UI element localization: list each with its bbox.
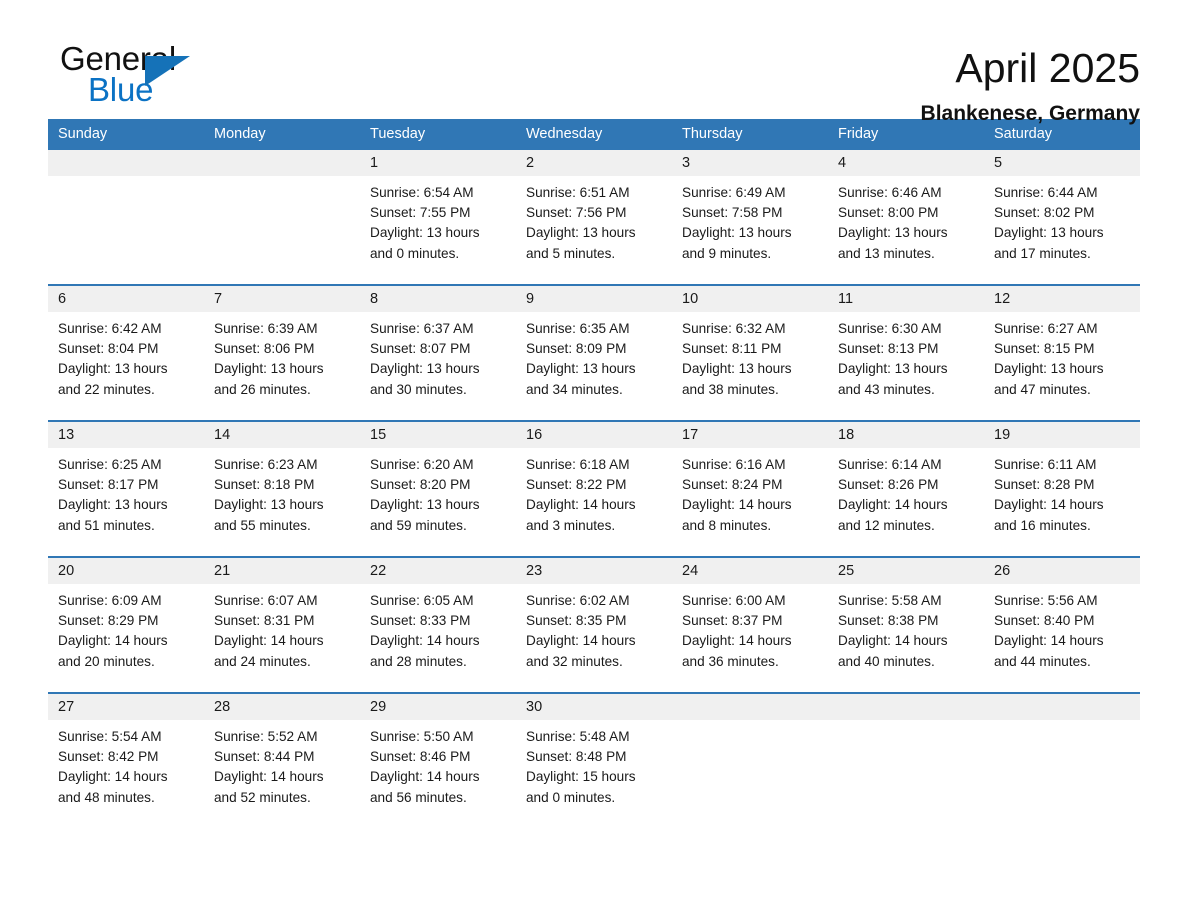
day-number[interactable]: 13 [48, 422, 204, 448]
day-detail-line: Daylight: 14 hours [58, 631, 194, 651]
day-number[interactable]: 21 [204, 558, 360, 584]
day-cell-empty [828, 720, 984, 828]
weekday-header-saturday: Saturday [984, 119, 1140, 150]
day-detail-line: Sunrise: 6:32 AM [682, 319, 818, 339]
day-detail-line: Sunrise: 6:25 AM [58, 455, 194, 475]
day-detail-line: Daylight: 13 hours [370, 223, 506, 243]
day-detail-line: Daylight: 13 hours [370, 359, 506, 379]
day-detail-line: Sunset: 7:55 PM [370, 203, 506, 223]
day-detail-line: Sunset: 8:15 PM [994, 339, 1130, 359]
day-detail-line: Sunrise: 6:27 AM [994, 319, 1130, 339]
day-detail-line: Daylight: 14 hours [526, 495, 662, 515]
day-detail-line: and 28 minutes. [370, 652, 506, 672]
day-detail-line: Sunrise: 6:46 AM [838, 183, 974, 203]
day-detail-line: and 55 minutes. [214, 516, 350, 536]
weekday-header-friday: Friday [828, 119, 984, 150]
day-number[interactable]: 20 [48, 558, 204, 584]
day-detail-line: Daylight: 14 hours [994, 495, 1130, 515]
day-detail-line: and 30 minutes. [370, 380, 506, 400]
week-cells: Sunrise: 6:54 AMSunset: 7:55 PMDaylight:… [48, 176, 1140, 284]
day-number-empty [204, 150, 360, 176]
day-cell[interactable]: Sunrise: 6:30 AMSunset: 8:13 PMDaylight:… [828, 312, 984, 420]
page-header: General Blue April 2025 Blankenese, Germ… [48, 0, 1140, 108]
day-detail-line: Sunrise: 5:48 AM [526, 727, 662, 747]
day-detail-line: and 56 minutes. [370, 788, 506, 808]
day-detail-line: Sunset: 8:20 PM [370, 475, 506, 495]
day-detail-line: Sunrise: 6:05 AM [370, 591, 506, 611]
day-detail-line: Daylight: 14 hours [370, 767, 506, 787]
day-detail-line: Daylight: 15 hours [526, 767, 662, 787]
day-detail-line: Daylight: 13 hours [994, 223, 1130, 243]
day-detail-line: Sunset: 8:06 PM [214, 339, 350, 359]
day-detail-line: and 44 minutes. [994, 652, 1130, 672]
day-detail-line: and 13 minutes. [838, 244, 974, 264]
calendar-week-row: 20212223242526Sunrise: 6:09 AMSunset: 8:… [48, 556, 1140, 692]
day-detail-line: and 36 minutes. [682, 652, 818, 672]
day-detail-line: Sunrise: 6:16 AM [682, 455, 818, 475]
day-number[interactable]: 10 [672, 286, 828, 312]
day-detail-line: Daylight: 13 hours [838, 223, 974, 243]
day-detail-line: Sunset: 8:09 PM [526, 339, 662, 359]
day-number[interactable]: 29 [360, 694, 516, 720]
day-cell[interactable]: Sunrise: 6:05 AMSunset: 8:33 PMDaylight:… [360, 584, 516, 692]
day-number[interactable]: 24 [672, 558, 828, 584]
day-detail-line: Sunrise: 6:07 AM [214, 591, 350, 611]
day-detail-line: Sunrise: 6:39 AM [214, 319, 350, 339]
day-cell[interactable]: Sunrise: 5:58 AMSunset: 8:38 PMDaylight:… [828, 584, 984, 692]
day-cell[interactable]: Sunrise: 6:49 AMSunset: 7:58 PMDaylight:… [672, 176, 828, 284]
day-detail-line: Daylight: 13 hours [370, 495, 506, 515]
day-number[interactable]: 19 [984, 422, 1140, 448]
day-cell[interactable]: Sunrise: 6:39 AMSunset: 8:06 PMDaylight:… [204, 312, 360, 420]
day-detail-line: and 51 minutes. [58, 516, 194, 536]
day-detail-line: Sunset: 8:35 PM [526, 611, 662, 631]
day-detail-line: and 47 minutes. [994, 380, 1130, 400]
day-cell[interactable]: Sunrise: 6:42 AMSunset: 8:04 PMDaylight:… [48, 312, 204, 420]
day-cell[interactable]: Sunrise: 6:23 AMSunset: 8:18 PMDaylight:… [204, 448, 360, 556]
day-detail-line: Sunset: 8:17 PM [58, 475, 194, 495]
day-detail-line: Sunset: 8:37 PM [682, 611, 818, 631]
day-detail-line: Sunset: 8:18 PM [214, 475, 350, 495]
day-cell[interactable]: Sunrise: 5:52 AMSunset: 8:44 PMDaylight:… [204, 720, 360, 828]
day-detail-line: and 48 minutes. [58, 788, 194, 808]
day-detail-line: Sunset: 8:04 PM [58, 339, 194, 359]
day-detail-line: and 24 minutes. [214, 652, 350, 672]
day-number[interactable]: 4 [828, 150, 984, 176]
day-detail-line: Sunset: 8:28 PM [994, 475, 1130, 495]
day-number-empty [48, 150, 204, 176]
day-detail-line: Daylight: 13 hours [526, 359, 662, 379]
day-number[interactable]: 22 [360, 558, 516, 584]
day-detail-line: Sunset: 8:42 PM [58, 747, 194, 767]
day-number[interactable]: 3 [672, 150, 828, 176]
day-number-empty [828, 694, 984, 720]
day-detail-line: Daylight: 14 hours [838, 495, 974, 515]
day-detail-line: Sunset: 8:29 PM [58, 611, 194, 631]
day-number[interactable]: 8 [360, 286, 516, 312]
day-number[interactable]: 23 [516, 558, 672, 584]
day-detail-line: Sunset: 8:46 PM [370, 747, 506, 767]
day-detail-line: Daylight: 14 hours [682, 631, 818, 651]
calendar-week-row: 12345Sunrise: 6:54 AMSunset: 7:55 PMDayl… [48, 150, 1140, 284]
day-detail-line: Sunset: 8:33 PM [370, 611, 506, 631]
week-cells: Sunrise: 6:09 AMSunset: 8:29 PMDaylight:… [48, 584, 1140, 692]
calendar-week-row: 27282930Sunrise: 5:54 AMSunset: 8:42 PMD… [48, 692, 1140, 828]
day-cell[interactable]: Sunrise: 6:20 AMSunset: 8:20 PMDaylight:… [360, 448, 516, 556]
generalblue-logo: General Blue [48, 42, 238, 124]
day-detail-line: Sunrise: 5:52 AM [214, 727, 350, 747]
day-detail-line: Sunrise: 5:58 AM [838, 591, 974, 611]
day-detail-line: Sunrise: 5:50 AM [370, 727, 506, 747]
weekday-header-thursday: Thursday [672, 119, 828, 150]
day-detail-line: Sunrise: 6:30 AM [838, 319, 974, 339]
calendar-week-row: 6789101112Sunrise: 6:42 AMSunset: 8:04 P… [48, 284, 1140, 420]
day-detail-line: Daylight: 13 hours [994, 359, 1130, 379]
day-detail-line: Sunrise: 6:35 AM [526, 319, 662, 339]
day-detail-line: Sunrise: 6:00 AM [682, 591, 818, 611]
calendar-week-row: 13141516171819Sunrise: 6:25 AMSunset: 8:… [48, 420, 1140, 556]
day-number[interactable]: 2 [516, 150, 672, 176]
day-detail-line: Sunset: 8:24 PM [682, 475, 818, 495]
day-cell[interactable]: Sunrise: 6:00 AMSunset: 8:37 PMDaylight:… [672, 584, 828, 692]
day-number-empty [672, 694, 828, 720]
day-number[interactable]: 15 [360, 422, 516, 448]
day-detail-line: and 12 minutes. [838, 516, 974, 536]
day-cell-empty [672, 720, 828, 828]
day-number[interactable]: 6 [48, 286, 204, 312]
calendar-table: SundayMondayTuesdayWednesdayThursdayFrid… [48, 119, 1140, 828]
day-detail-line: Sunset: 8:26 PM [838, 475, 974, 495]
day-detail-line: Daylight: 14 hours [994, 631, 1130, 651]
week-cells: Sunrise: 6:25 AMSunset: 8:17 PMDaylight:… [48, 448, 1140, 556]
day-detail-line: and 26 minutes. [214, 380, 350, 400]
day-number[interactable]: 17 [672, 422, 828, 448]
day-number[interactable]: 1 [360, 150, 516, 176]
day-cell[interactable]: Sunrise: 6:16 AMSunset: 8:24 PMDaylight:… [672, 448, 828, 556]
day-detail-line: Sunrise: 6:49 AM [682, 183, 818, 203]
day-detail-line: Sunrise: 6:51 AM [526, 183, 662, 203]
day-number[interactable]: 11 [828, 286, 984, 312]
week-cells: Sunrise: 5:54 AMSunset: 8:42 PMDaylight:… [48, 720, 1140, 828]
day-number[interactable]: 16 [516, 422, 672, 448]
day-detail-line: Daylight: 13 hours [214, 359, 350, 379]
day-number[interactable]: 14 [204, 422, 360, 448]
day-number[interactable]: 18 [828, 422, 984, 448]
day-number[interactable]: 5 [984, 150, 1140, 176]
day-number-band: 20212223242526 [48, 558, 1140, 584]
day-detail-line: and 59 minutes. [370, 516, 506, 536]
day-detail-line: Sunset: 8:44 PM [214, 747, 350, 767]
day-detail-line: Daylight: 14 hours [214, 767, 350, 787]
day-number-band: 12345 [48, 150, 1140, 176]
day-cell[interactable]: Sunrise: 6:54 AMSunset: 7:55 PMDaylight:… [360, 176, 516, 284]
day-detail-line: and 8 minutes. [682, 516, 818, 536]
day-detail-line: Daylight: 13 hours [58, 359, 194, 379]
day-cell[interactable]: Sunrise: 6:32 AMSunset: 8:11 PMDaylight:… [672, 312, 828, 420]
day-detail-line: Daylight: 13 hours [214, 495, 350, 515]
day-detail-line: Sunset: 8:11 PM [682, 339, 818, 359]
day-number[interactable]: 7 [204, 286, 360, 312]
day-detail-line: Daylight: 14 hours [526, 631, 662, 651]
day-detail-line: and 32 minutes. [526, 652, 662, 672]
day-detail-line: Daylight: 14 hours [58, 767, 194, 787]
day-detail-line: Sunrise: 6:14 AM [838, 455, 974, 475]
day-detail-line: Sunset: 8:07 PM [370, 339, 506, 359]
day-cell[interactable]: Sunrise: 6:46 AMSunset: 8:00 PMDaylight:… [828, 176, 984, 284]
day-number[interactable]: 12 [984, 286, 1140, 312]
day-detail-line: and 52 minutes. [214, 788, 350, 808]
day-number-band: 27282930 [48, 694, 1140, 720]
day-cell[interactable]: Sunrise: 6:37 AMSunset: 8:07 PMDaylight:… [360, 312, 516, 420]
day-detail-line: and 9 minutes. [682, 244, 818, 264]
day-detail-line: and 0 minutes. [526, 788, 662, 808]
day-cell[interactable]: Sunrise: 5:56 AMSunset: 8:40 PMDaylight:… [984, 584, 1140, 692]
day-cell[interactable]: Sunrise: 6:07 AMSunset: 8:31 PMDaylight:… [204, 584, 360, 692]
week-cells: Sunrise: 6:42 AMSunset: 8:04 PMDaylight:… [48, 312, 1140, 420]
day-detail-line: Sunrise: 6:54 AM [370, 183, 506, 203]
day-number-empty [984, 694, 1140, 720]
day-detail-line: Sunset: 8:00 PM [838, 203, 974, 223]
day-detail-line: and 38 minutes. [682, 380, 818, 400]
day-cell[interactable]: Sunrise: 6:11 AMSunset: 8:28 PMDaylight:… [984, 448, 1140, 556]
day-detail-line: Sunrise: 6:42 AM [58, 319, 194, 339]
day-detail-line: Sunrise: 6:23 AM [214, 455, 350, 475]
day-cell-empty [984, 720, 1140, 828]
page-title: April 2025 [921, 44, 1140, 92]
day-detail-line: Sunrise: 5:54 AM [58, 727, 194, 747]
day-detail-line: Daylight: 13 hours [526, 223, 662, 243]
day-detail-line: Sunrise: 6:02 AM [526, 591, 662, 611]
day-cell[interactable]: Sunrise: 5:50 AMSunset: 8:46 PMDaylight:… [360, 720, 516, 828]
day-detail-line: Daylight: 13 hours [58, 495, 194, 515]
day-cell[interactable]: Sunrise: 6:18 AMSunset: 8:22 PMDaylight:… [516, 448, 672, 556]
day-detail-line: and 16 minutes. [994, 516, 1130, 536]
day-detail-line: Sunrise: 6:20 AM [370, 455, 506, 475]
day-detail-line: Daylight: 14 hours [370, 631, 506, 651]
day-detail-line: Daylight: 13 hours [838, 359, 974, 379]
day-cell[interactable]: Sunrise: 6:27 AMSunset: 8:15 PMDaylight:… [984, 312, 1140, 420]
day-detail-line: and 20 minutes. [58, 652, 194, 672]
day-detail-line: Sunset: 8:31 PM [214, 611, 350, 631]
day-cell[interactable]: Sunrise: 6:02 AMSunset: 8:35 PMDaylight:… [516, 584, 672, 692]
day-detail-line: Sunset: 7:58 PM [682, 203, 818, 223]
day-detail-line: and 34 minutes. [526, 380, 662, 400]
day-number[interactable]: 26 [984, 558, 1140, 584]
day-number[interactable]: 30 [516, 694, 672, 720]
day-detail-line: Sunrise: 6:37 AM [370, 319, 506, 339]
day-detail-line: Daylight: 14 hours [838, 631, 974, 651]
day-cell[interactable]: Sunrise: 6:51 AMSunset: 7:56 PMDaylight:… [516, 176, 672, 284]
day-detail-line: and 40 minutes. [838, 652, 974, 672]
day-number[interactable]: 9 [516, 286, 672, 312]
day-detail-line: Sunset: 8:40 PM [994, 611, 1130, 631]
day-cell[interactable]: Sunrise: 5:48 AMSunset: 8:48 PMDaylight:… [516, 720, 672, 828]
day-cell[interactable]: Sunrise: 6:09 AMSunset: 8:29 PMDaylight:… [48, 584, 204, 692]
day-detail-line: Sunset: 8:48 PM [526, 747, 662, 767]
day-detail-line: Sunrise: 5:56 AM [994, 591, 1130, 611]
day-detail-line: Sunset: 8:13 PM [838, 339, 974, 359]
triangle-flag-icon [145, 56, 190, 86]
title-block: April 2025 Blankenese, Germany [921, 42, 1140, 128]
day-number-band: 13141516171819 [48, 422, 1140, 448]
day-cell[interactable]: Sunrise: 6:44 AMSunset: 8:02 PMDaylight:… [984, 176, 1140, 284]
day-number[interactable]: 27 [48, 694, 204, 720]
day-detail-line: and 3 minutes. [526, 516, 662, 536]
day-detail-line: Sunrise: 6:09 AM [58, 591, 194, 611]
day-cell[interactable]: Sunrise: 6:14 AMSunset: 8:26 PMDaylight:… [828, 448, 984, 556]
day-cell-empty [204, 176, 360, 284]
day-cell-empty [48, 176, 204, 284]
day-detail-line: and 17 minutes. [994, 244, 1130, 264]
day-detail-line: and 22 minutes. [58, 380, 194, 400]
day-detail-line: Sunset: 8:38 PM [838, 611, 974, 631]
day-detail-line: Daylight: 14 hours [682, 495, 818, 515]
day-number[interactable]: 28 [204, 694, 360, 720]
weekday-header-tuesday: Tuesday [360, 119, 516, 150]
day-detail-line: and 5 minutes. [526, 244, 662, 264]
day-detail-line: Sunset: 8:02 PM [994, 203, 1130, 223]
day-detail-line: and 43 minutes. [838, 380, 974, 400]
day-cell[interactable]: Sunrise: 6:25 AMSunset: 8:17 PMDaylight:… [48, 448, 204, 556]
day-detail-line: Daylight: 13 hours [682, 223, 818, 243]
day-cell[interactable]: Sunrise: 5:54 AMSunset: 8:42 PMDaylight:… [48, 720, 204, 828]
day-number[interactable]: 25 [828, 558, 984, 584]
day-detail-line: Daylight: 14 hours [214, 631, 350, 651]
calendar-weeks: 12345Sunrise: 6:54 AMSunset: 7:55 PMDayl… [48, 150, 1140, 828]
day-detail-line: Sunset: 8:22 PM [526, 475, 662, 495]
weekday-header-wednesday: Wednesday [516, 119, 672, 150]
day-cell[interactable]: Sunrise: 6:35 AMSunset: 8:09 PMDaylight:… [516, 312, 672, 420]
day-detail-line: Daylight: 13 hours [682, 359, 818, 379]
day-detail-line: Sunset: 7:56 PM [526, 203, 662, 223]
calendar-page: General Blue April 2025 Blankenese, Germ… [0, 0, 1188, 918]
day-detail-line: Sunrise: 6:11 AM [994, 455, 1130, 475]
day-detail-line: Sunrise: 6:18 AM [526, 455, 662, 475]
day-number-band: 6789101112 [48, 286, 1140, 312]
day-detail-line: Sunrise: 6:44 AM [994, 183, 1130, 203]
day-detail-line: and 0 minutes. [370, 244, 506, 264]
